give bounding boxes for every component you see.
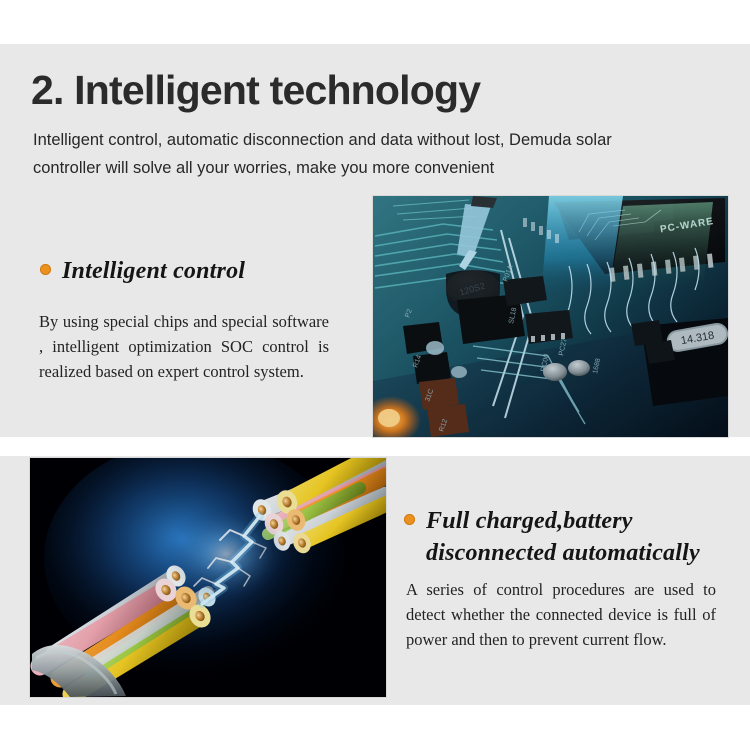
orange-dot-icon bbox=[40, 264, 51, 275]
circuit-board-illustration: PC-WARE bbox=[373, 196, 728, 437]
feature-2-title: Full charged,battery disconnected automa… bbox=[426, 506, 700, 570]
feature-2-body: A series of control procedures are used … bbox=[406, 577, 716, 652]
feature-2-title-line-1: Full charged,battery bbox=[426, 506, 700, 538]
page-subtitle: Intelligent control, automatic disconnec… bbox=[33, 126, 723, 183]
feature-2-heading: Full charged,battery disconnected automa… bbox=[404, 506, 734, 570]
page-title: 2. Intelligent technology bbox=[31, 70, 480, 111]
subtitle-line-1: Intelligent control, automatic disconnec… bbox=[33, 126, 723, 154]
feature-1-body: By using special chips and special softw… bbox=[39, 309, 329, 384]
product-detail-page: 2. Intelligent technology Intelligent co… bbox=[0, 0, 750, 750]
cable-spark-illustration bbox=[30, 458, 386, 697]
orange-dot-icon bbox=[404, 514, 415, 525]
feature-1-title: Intelligent control bbox=[62, 256, 245, 288]
feature-2-title-line-2: disconnected automatically bbox=[426, 538, 700, 570]
circuit-board-photo: PC-WARE bbox=[373, 196, 728, 437]
feature-1-heading: Intelligent control bbox=[40, 256, 340, 288]
subtitle-line-2: controller will solve all your worries, … bbox=[33, 154, 723, 182]
cable-spark-photo bbox=[30, 458, 386, 697]
